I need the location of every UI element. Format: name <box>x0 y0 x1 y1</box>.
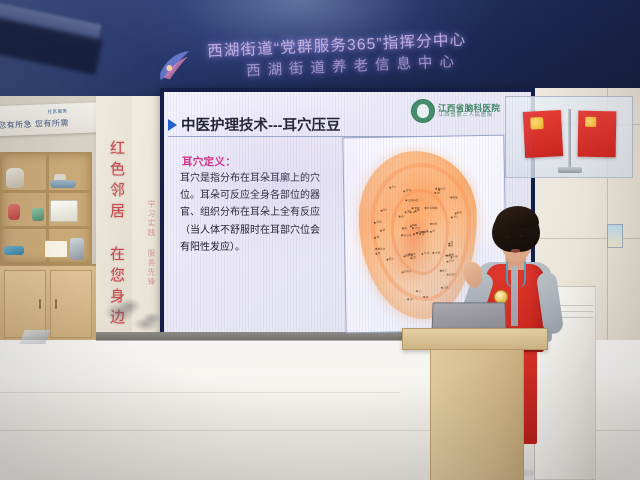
ear-acupoint-label: 皮质下 <box>449 272 457 276</box>
lectern-column <box>430 350 524 480</box>
sign-sub-mark: 社区服务 <box>48 108 68 115</box>
ear-acupoint-label: 内耳 <box>440 187 445 191</box>
pillar-calligraphy-secondary: 学习实践 服务先锋 <box>146 200 157 287</box>
shelf-thermos <box>70 238 84 260</box>
ear-acupoint-label: 轮3 <box>383 208 387 212</box>
play-triangle-icon <box>168 119 177 131</box>
flag-pole <box>568 109 571 171</box>
slide-body-line: 官、组织分布在耳朵上全有反应 <box>180 204 330 221</box>
ear-acupoint-label: 颞 <box>451 241 454 245</box>
ear-acupoint-label: 内分泌 <box>403 233 411 237</box>
shelf-red-item <box>8 204 20 220</box>
ear-acupoint-label: 缘中 <box>410 252 415 256</box>
ear-acupoint-label: 对屏尖 <box>404 270 412 274</box>
wooden-lectern <box>402 328 548 480</box>
prc-national-flag <box>578 111 617 158</box>
presenter-mouth <box>511 249 520 253</box>
ear-acupoint-label: 坐骨神经 <box>408 198 418 202</box>
shelf-blue-item <box>4 246 24 255</box>
slide-body-heading: 耳穴定义： <box>182 154 236 169</box>
hospital-emblem-icon <box>411 99 435 123</box>
ear-acupoint-label: 心 <box>419 289 422 293</box>
sign-main-text: 您有所急 您有所需 <box>0 116 110 131</box>
ear-acupoint-label: 尿道 <box>376 220 381 224</box>
slide-body-line: 有阳性发应）。 <box>180 239 330 256</box>
ear-acupoint-label: 肩 <box>404 226 407 230</box>
cpc-party-flag <box>523 110 563 158</box>
ear-acupoint-label: 交感 <box>432 222 437 226</box>
ear-acupoint-label: 指 <box>410 297 413 301</box>
ear-acupoint-label: 臀 <box>426 229 429 233</box>
flag-stand-base <box>558 167 582 173</box>
slide-body-text: 耳穴是指分布在耳朵耳廓上的穴 位。耳朵可反应全身各部位的器 官、组织分布在耳朵上… <box>180 170 330 256</box>
photo-scene: 西湖街道“党群服务365”指挥分中心 西湖街道养老信息中心 社区服务 您有所急 … <box>0 0 640 480</box>
presenter-eye-right <box>519 235 523 237</box>
ear-acupoint-label: 胃 <box>383 228 386 232</box>
slide-title: 中医护理技术---耳穴压豆 <box>181 114 341 135</box>
flag-display-case <box>505 96 633 178</box>
ear-acupoint-label: 枕 <box>378 251 381 255</box>
ear-acupoint-label: 胸椎 <box>412 223 417 227</box>
ear-acupoint-label: 屏尖 <box>389 257 394 261</box>
national-flag-stars-icon <box>585 117 596 127</box>
presenter-eye-left <box>505 236 509 238</box>
ear-acupoint-label: 颈椎 <box>452 195 457 199</box>
ear-acupoint-label: 脾 <box>426 294 429 298</box>
ear-acupoint-label: 扁桃体 <box>377 246 385 250</box>
ear-acupoint-label: 踝 <box>377 235 380 239</box>
ear-acupoint-label: 耳尖 <box>449 258 454 262</box>
ear-acupoint-label: 大肠 <box>435 250 440 254</box>
ear-acupoint-label: 牙 <box>412 210 415 214</box>
ear-acupoint-label: 直肠 <box>449 253 454 257</box>
slide-body-line: （当人体不舒服时在耳部穴位会 <box>180 222 330 239</box>
ear-acupoint-label: 肝 <box>432 229 435 233</box>
ear-acupoint-label: 锁骨 <box>457 211 462 215</box>
ear-acupoint-label: 轮1 <box>454 215 458 219</box>
ear-acupoint-label: 舌 <box>401 214 404 218</box>
hospital-name-secondary: 江西省第三人民医院 <box>438 113 500 119</box>
ear-acupoint-label: 额 <box>437 191 440 195</box>
shelf-framed-card <box>44 240 68 258</box>
ear-acupoint-label: 外耳 <box>424 251 429 255</box>
id-lanyard <box>506 262 526 288</box>
ear-acupoint-markers: 轮1轮2轮3轮4耳尖结节肝阳对屏尖屏尖外耳心肺肝脾肾胃小肠大肠膀胱神门交感皮质下… <box>343 136 503 139</box>
appliance-label-sticker <box>607 224 623 248</box>
ear-acupoint-label: 轮4 <box>392 185 396 189</box>
ear-acupoint-label: 眼 <box>416 232 419 236</box>
shelf-kettle <box>6 168 24 188</box>
slide-body-line: 耳穴是指分布在耳朵耳廓上的穴 <box>180 170 330 187</box>
wooden-storage-shelf <box>0 152 92 264</box>
ear-acupoint-label: 脑干 <box>442 268 447 272</box>
ear-acupoint-label: 肝阳 <box>406 188 411 192</box>
ear-acupoint-label: 膝 <box>417 208 420 212</box>
hammer-sickle-emblem-icon <box>530 117 544 130</box>
ear-acupoint-label: 外生殖器 <box>427 206 437 210</box>
shelf-white-box <box>50 200 78 222</box>
shelf-bowl-stack <box>50 180 76 188</box>
slide-body-line: 位。耳朵可反应全身各部位的器 <box>180 187 330 204</box>
ear-acupoint-label: 三焦 <box>443 285 448 289</box>
shelf-green-jar <box>32 208 44 221</box>
lectern-top-panel <box>402 328 548 350</box>
